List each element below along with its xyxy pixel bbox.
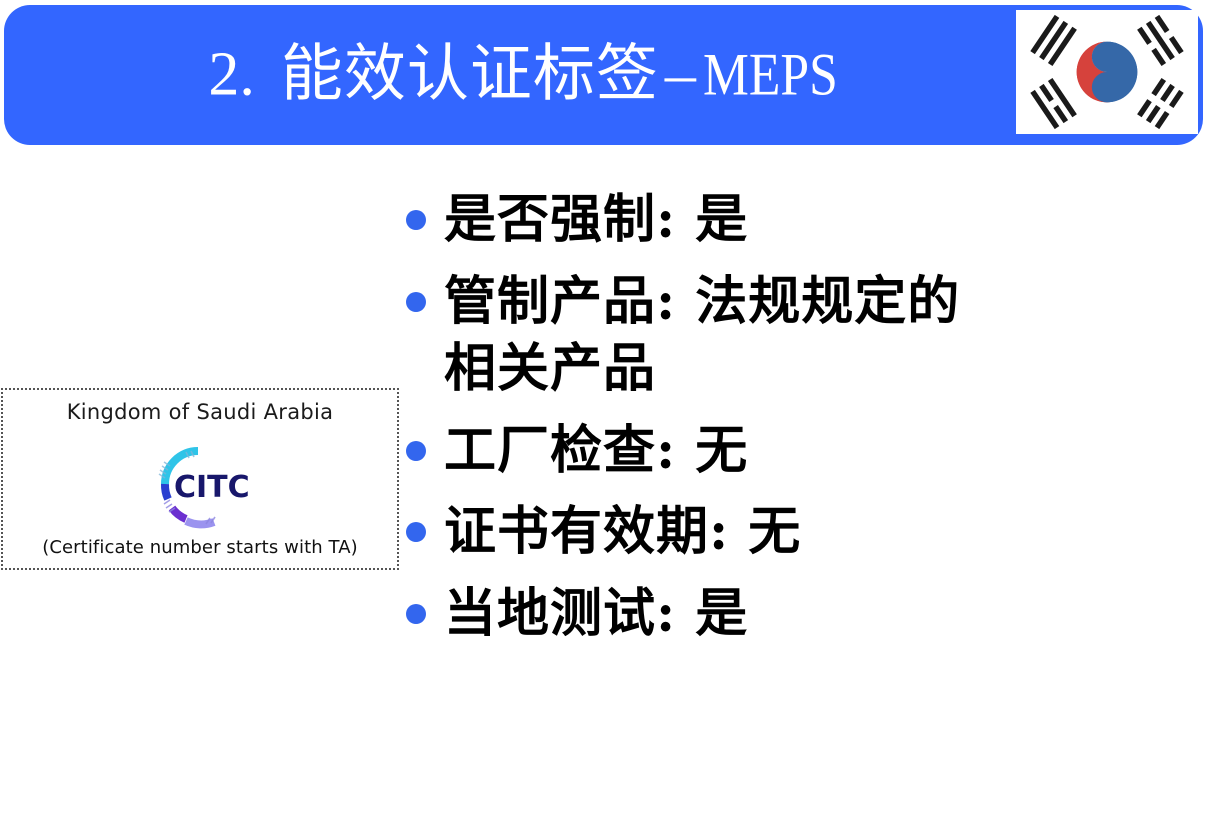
list-item: 管制产品: 法规规定的相关产品 <box>406 268 1196 403</box>
title-dash: – <box>659 42 703 107</box>
citc-caption: (Certificate number starts with TA) <box>3 537 397 558</box>
list-item: 是否强制: 是 <box>406 186 1196 254</box>
bullet-dot-icon <box>406 604 426 624</box>
citc-logo-graphic: CITC <box>134 442 266 530</box>
title-acronym: MEPS <box>703 43 838 106</box>
bullet-dot-icon <box>406 292 426 312</box>
list-item: 当地测试: 是 <box>406 580 1196 648</box>
citc-wordmark: CITC <box>174 470 250 505</box>
citc-country-heading: Kingdom of Saudi Arabia <box>3 400 397 424</box>
list-item-text: 管制产品: 法规规定的相关产品 <box>444 268 1004 403</box>
list-item-text: 工厂检查: 无 <box>444 417 748 485</box>
page-title: 2.能效认证标签–MEPS <box>64 42 1004 107</box>
bullet-dot-icon <box>406 441 426 461</box>
bullet-dot-icon <box>406 522 426 542</box>
south-korea-flag-graphic <box>1016 10 1198 134</box>
list-item-text: 是否强制: 是 <box>444 186 748 254</box>
bullet-dot-icon <box>406 210 426 230</box>
citc-certificate-card: Kingdom of Saudi Arabia <box>1 388 399 570</box>
slide-canvas: 2.能效认证标签–MEPS <box>0 0 1209 813</box>
list-item-text: 当地测试: 是 <box>444 580 748 648</box>
list-item-text: 证书有效期: 无 <box>444 498 801 566</box>
bullet-list: 是否强制: 是 管制产品: 法规规定的相关产品 工厂检查: 无 证书有效期: 无… <box>406 186 1196 662</box>
title-number: 2. <box>208 40 255 108</box>
south-korea-flag <box>1016 10 1198 134</box>
list-item: 工厂检查: 无 <box>406 417 1196 485</box>
list-item: 证书有效期: 无 <box>406 498 1196 566</box>
taegeuk-icon <box>1077 42 1138 103</box>
title-main-text: 能效认证标签 <box>281 40 659 108</box>
citc-logo: CITC <box>134 442 266 530</box>
